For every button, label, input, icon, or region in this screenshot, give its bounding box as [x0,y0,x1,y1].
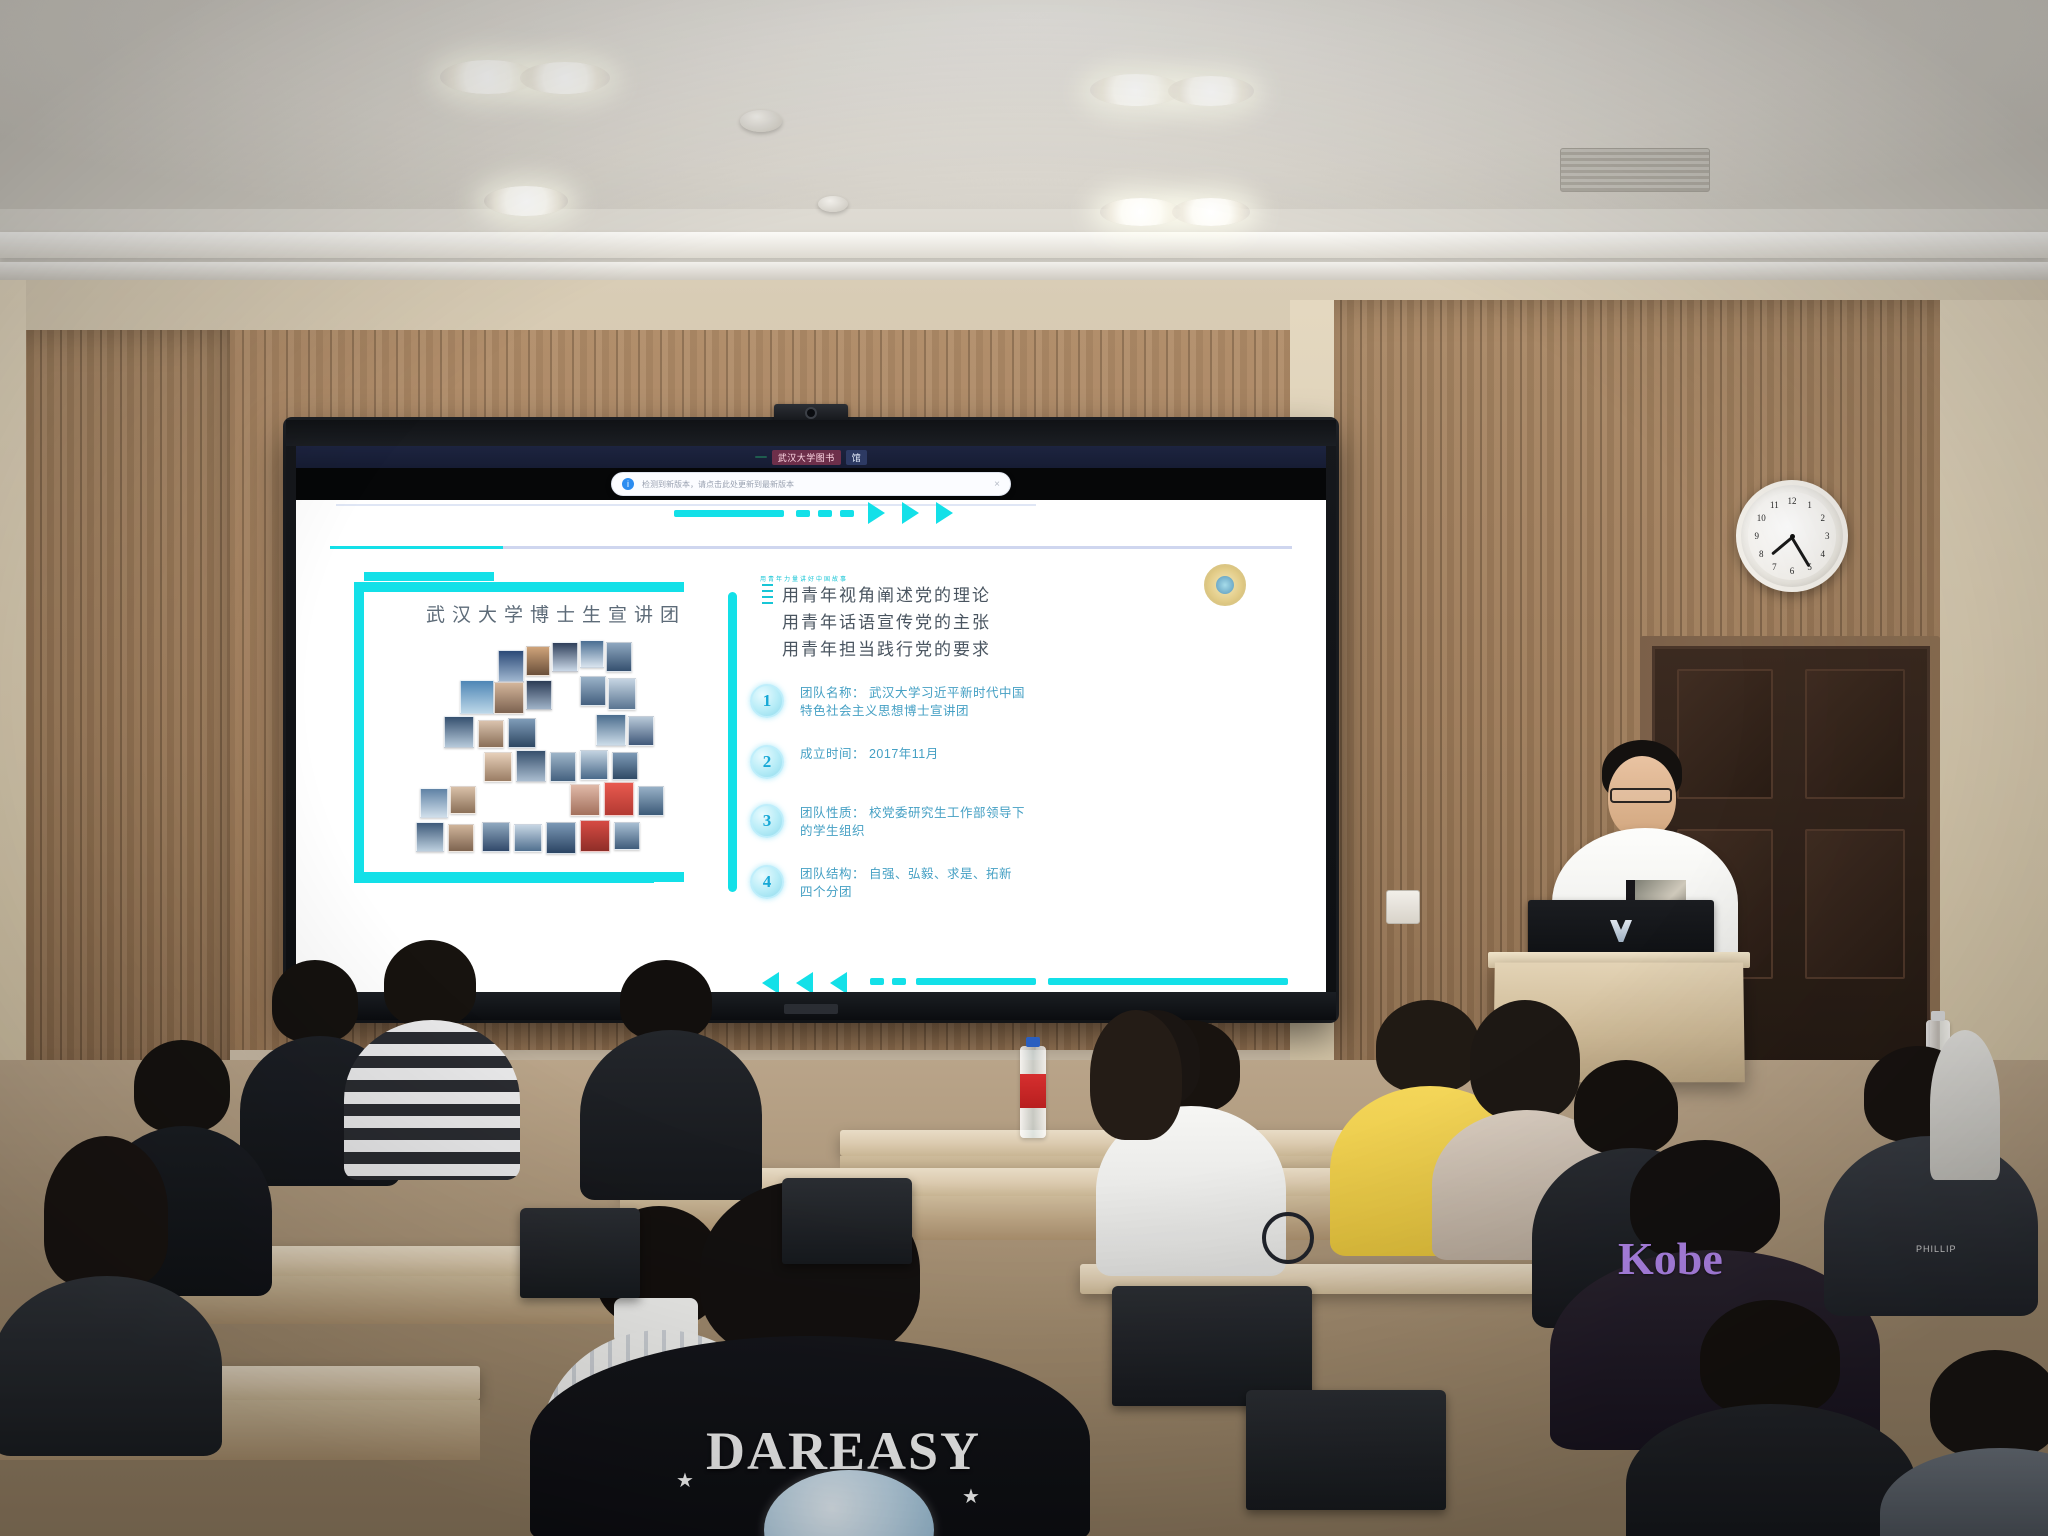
slide-decor-bar [1048,978,1288,985]
ceiling-light [1168,76,1254,106]
wood-slat-wall-left [0,330,230,1090]
slide-decor-bar [674,510,784,517]
smoke-detector-icon [818,196,848,212]
audience-hair [384,940,476,1026]
app-title-label-2: 馆 [846,450,868,465]
audience-hair [620,960,712,1040]
smoke-detector-icon [740,110,782,132]
clock-numeral: 11 [1770,500,1779,510]
clock-numeral: 9 [1755,531,1760,541]
collage-photo [580,820,610,852]
bullet-text: 团队名称： 武汉大学习近平新时代中国 特色社会主义思想博士宣讲团 [800,684,1180,720]
lecture-hall-scene: 12 1 2 3 4 5 6 7 8 9 10 11 [0,0,2048,1536]
clock-numeral: 6 [1790,566,1795,576]
door-panel [1805,829,1905,979]
hoodie-star-icon: ★ [676,1468,694,1493]
audience-member [1640,1300,1900,1536]
bullet-number: 1 [750,684,784,718]
clock-face: 12 1 2 3 4 5 6 7 8 9 10 11 [1748,492,1836,580]
cornice-lower [0,262,2048,280]
chair [1112,1286,1312,1406]
clock-numeral: 4 [1821,549,1826,559]
app-title-label: 武汉大学图书 [772,450,841,465]
collage-photo [416,822,444,852]
screen-display[interactable]: 武汉大学图书 馆 i 检测到新版本，请点击此处更新到最新版本 × [296,446,1326,992]
wall-socket[interactable] [1386,890,1420,924]
bullet-text: 团队结构： 自强、弘毅、求是、拓新 四个分团 [800,865,1180,901]
collage-photo [638,786,664,816]
presentation-slide: 武汉大学博士生宣讲团 [296,500,1326,992]
collage-photo [546,822,576,854]
slide-decor-dot [870,978,884,985]
audience-jersey-small-text: PHILLIP [1916,1244,1957,1254]
audience-member [360,940,500,1180]
slide-divider-top [336,504,1036,506]
play-triangle-icon [830,972,847,992]
collage-photo [514,824,542,852]
list-item: 3 团队性质： 校党委研究生工作部领导下 的学生组织 [750,804,1180,840]
play-triangle-icon [796,972,813,992]
update-toast[interactable]: i 检测到新版本，请点击此处更新到最新版本 × [611,472,1011,496]
list-item: 4 团队结构： 自强、弘毅、求是、拓新 四个分团 [750,865,1180,901]
wall-plaster-right [1940,300,2048,1120]
bottle-label [1020,1074,1046,1108]
audience-member [1870,1000,2000,1180]
ceiling-light [1100,198,1182,226]
bullet-line: 团队结构： 自强、弘毅、求是、拓新 [800,865,1180,883]
audience-jersey-text: Kobe [1618,1232,1723,1285]
bullet-line: 特色社会主义思想博士宣讲团 [800,702,1180,720]
bullet-line: 团队性质： 校党委研究生工作部领导下 [800,804,1180,822]
collage-photo [570,784,600,816]
bullet-text: 成立时间： 2017年11月 [800,745,1180,763]
collage-photo [526,646,550,676]
bullet-line: 团队名称： 武汉大学习近平新时代中国 [800,684,1180,702]
audience-torso [580,1030,762,1200]
collage-photo [420,788,448,818]
play-triangle-icon [902,502,919,524]
screen-brand-logo [784,1004,838,1014]
collage-photo [508,718,536,748]
clock-numeral: 7 [1772,562,1777,572]
bullet-line: 的学生组织 [800,822,1180,840]
slide-decor-dot [892,978,906,985]
collage-photo [552,642,578,672]
water-bottle[interactable] [1020,1046,1046,1138]
audience-hair [1090,1010,1182,1140]
audience-torso [0,1276,222,1456]
toast-message: 检测到新版本，请点击此处更新到最新版本 [642,479,986,490]
collage-photo [526,680,552,710]
presenter-laptop[interactable] [1528,900,1714,960]
collage-photo [482,822,510,852]
collage-photo [608,678,636,710]
university-emblem-icon [1204,564,1246,606]
clock-numeral: 2 [1821,513,1826,523]
collage-photo [606,642,632,672]
audience-torso [1626,1404,1916,1536]
headline-line: 用青年担当践行党的要求 [782,636,1082,663]
slide-corner-accent [364,572,494,581]
slide-content: 武汉大学博士生宣讲团 [330,526,1292,976]
app-chip-icon [755,456,767,458]
collage-photo [444,716,474,748]
audience-hair [1700,1300,1840,1416]
audience-member [1070,1010,1200,1230]
audience-member [1900,1350,2048,1536]
collage-photo [596,714,626,746]
ceiling-light [520,62,610,94]
slide-decor-dot [796,510,810,517]
bullet-number: 3 [750,804,784,838]
hoodie-star-icon: ★ [962,1484,980,1509]
bullet-text: 团队性质： 校党委研究生工作部领导下 的学生组织 [800,804,1180,840]
app-titlebar: 武汉大学图书 馆 [296,446,1326,468]
collage-photo [478,720,504,748]
collage-photo [614,822,640,850]
cornice-upper [0,232,2048,258]
collage-photo [580,750,608,780]
list-item: 2 成立时间： 2017年11月 [750,745,1180,779]
audience-torso [344,1020,520,1180]
collage-photo [450,786,476,814]
chair [782,1178,912,1264]
clock-center-pin [1790,534,1795,539]
audience-jersey-logo [1262,1212,1314,1264]
ceiling-light [484,186,568,216]
audience-member [580,960,750,1200]
clock-numeral: 12 [1788,496,1797,506]
clock-numeral: 1 [1807,500,1812,510]
collage-photo [580,676,606,706]
list-item: 1 团队名称： 武汉大学习近平新时代中国 特色社会主义思想博士宣讲团 [750,684,1180,720]
close-icon[interactable]: × [994,479,1000,490]
audience-hair [134,1040,230,1132]
headline-line: 用青年视角阐述党的理论 [782,582,1082,609]
slide-vertical-divider [728,592,737,892]
slide-accent-rule [330,546,1292,549]
audience-arm [1930,1030,2000,1180]
audience-hair [1930,1350,2048,1458]
audience-hair [44,1136,168,1286]
chair [1246,1390,1446,1510]
slide-decor-dot [818,510,832,517]
collage-photo [580,640,604,668]
bullet-number: 2 [750,745,784,779]
collage-photo [550,752,576,782]
slide-tickmarks [762,584,773,608]
slide-bullet-list: 1 团队名称： 武汉大学习近平新时代中国 特色社会主义思想博士宣讲团 2 成立时… [750,684,1180,926]
collage-photo [448,824,474,852]
air-vent [1560,148,1710,192]
collage-photo [628,716,654,746]
ceiling-recess [0,0,2048,209]
bullet-number: 4 [750,865,784,899]
ceiling-light [1172,198,1250,226]
presenter-glasses [1610,788,1672,803]
collage-photo [498,650,524,682]
projector-screen[interactable]: 武汉大学图书 馆 i 检测到新版本，请点击此处更新到最新版本 × [286,420,1336,1020]
audience-hair [272,960,358,1042]
clock-minute-hand [1791,537,1811,567]
slide-headlines: 用青年视角阐述党的理论 用青年话语宣传党的主张 用青年担当践行党的要求 [782,582,1082,663]
clock-numeral: 3 [1825,531,1830,541]
bullet-line: 四个分团 [800,883,1180,901]
door-panel [1805,669,1905,799]
photo-collage [390,636,720,886]
chair [520,1208,640,1298]
play-triangle-icon [936,502,953,524]
clock-numeral: 10 [1757,513,1766,523]
wall-plaster-left [0,280,26,1100]
collage-photo [460,680,494,714]
wall-clock: 12 1 2 3 4 5 6 7 8 9 10 11 [1736,480,1848,592]
collage-photo [604,782,634,816]
slide-title: 武汉大学博士生宣讲团 [426,600,686,627]
collage-photo [612,752,638,780]
screen-bezel-top [286,420,1336,446]
slide-decor-bar [916,978,1036,985]
slide-decor-dot [840,510,854,517]
bottle-cap [1026,1037,1040,1047]
audience-member [18,1136,208,1436]
play-triangle-icon [762,972,779,992]
clock-numeral: 8 [1759,549,1764,559]
bullet-line: 成立时间： 2017年11月 [800,745,1180,763]
headline-line: 用青年话语宣传党的主张 [782,609,1082,636]
audience-torso [1880,1448,2048,1536]
clock-hour-hand [1771,536,1793,555]
collage-photo [516,750,546,782]
play-triangle-icon [868,502,885,524]
collage-photo [484,752,512,782]
info-icon: i [622,478,634,490]
collage-photo [494,682,524,714]
